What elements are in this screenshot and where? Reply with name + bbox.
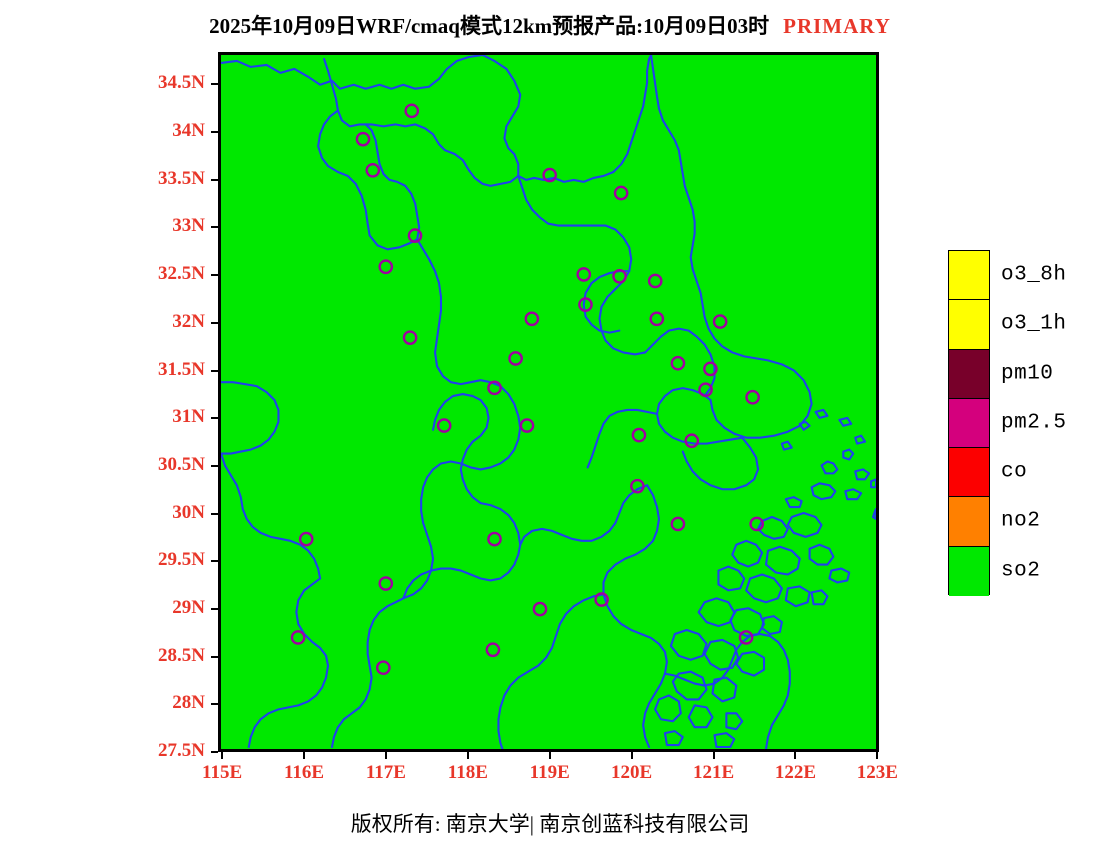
x-axis-label: 121E xyxy=(669,762,759,784)
x-axis-label: 122E xyxy=(750,762,840,784)
y-axis-label: 29.5N xyxy=(90,549,205,571)
map-canvas[interactable] xyxy=(218,52,879,752)
x-axis-label: 118E xyxy=(423,762,513,784)
legend-label-no2: no2 xyxy=(1001,510,1040,533)
legend-swatch-so2[interactable]: so2 xyxy=(949,547,989,596)
y-axis-label: 30N xyxy=(90,502,205,524)
y-axis-tick xyxy=(211,226,218,228)
x-axis-tick xyxy=(876,752,878,759)
map-geometry xyxy=(221,55,876,749)
x-axis-label: 119E xyxy=(505,762,595,784)
y-axis-label: 30.5N xyxy=(90,454,205,476)
y-axis-label: 34N xyxy=(90,120,205,142)
legend-swatch-o3-8h[interactable]: o3_8h xyxy=(949,251,989,300)
legend-swatch-co[interactable]: co xyxy=(949,448,989,497)
x-axis-tick xyxy=(303,752,305,759)
x-axis-label: 123E xyxy=(832,762,922,784)
x-axis-label: 116E xyxy=(259,762,349,784)
y-axis-label: 33N xyxy=(90,215,205,237)
legend-swatch-o3-1h[interactable]: o3_1h xyxy=(949,300,989,349)
y-axis-label: 31.5N xyxy=(90,359,205,381)
copyright-footer: 版权所有: 南京大学| 南京创蓝科技有限公司 xyxy=(0,808,1100,838)
legend-label-so2: so2 xyxy=(1001,560,1040,583)
legend-swatch-pm10[interactable]: pm10 xyxy=(949,350,989,399)
x-axis-tick xyxy=(713,752,715,759)
y-axis-tick xyxy=(211,751,218,753)
x-axis-label: 117E xyxy=(341,762,431,784)
y-axis-tick xyxy=(211,656,218,658)
y-axis-label: 27.5N xyxy=(90,740,205,762)
page-title: 2025年10月09日WRF/cmaq模式12km预报产品:10月09日03时P… xyxy=(0,10,1100,40)
y-axis-tick xyxy=(211,83,218,85)
y-axis-label: 29N xyxy=(90,597,205,619)
y-axis-tick xyxy=(211,179,218,181)
y-axis-tick xyxy=(211,417,218,419)
y-axis-tick xyxy=(211,370,218,372)
y-axis-label: 33.5N xyxy=(90,168,205,190)
y-axis-tick xyxy=(211,322,218,324)
legend-label-pm2-5: pm2.5 xyxy=(1001,411,1067,434)
y-axis-tick xyxy=(211,703,218,705)
title-main-text: 2025年10月09日WRF/cmaq模式12km预报产品:10月09日03时 xyxy=(209,14,769,38)
legend-swatch-no2[interactable]: no2 xyxy=(949,497,989,546)
y-axis-label: 32.5N xyxy=(90,263,205,285)
legend-color-scale[interactable]: o3_8ho3_1hpm10pm2.5cono2so2 xyxy=(948,250,990,595)
y-axis-tick xyxy=(211,560,218,562)
y-axis-tick xyxy=(211,465,218,467)
x-axis-tick xyxy=(385,752,387,759)
y-axis-label: 34.5N xyxy=(90,72,205,94)
x-axis-tick xyxy=(794,752,796,759)
x-axis-tick xyxy=(467,752,469,759)
x-axis-label: 120E xyxy=(587,762,677,784)
forecast-map-page: 2025年10月09日WRF/cmaq模式12km预报产品:10月09日03时P… xyxy=(0,0,1100,850)
x-axis-tick xyxy=(631,752,633,759)
legend-label-pm10: pm10 xyxy=(1001,362,1053,385)
y-axis-label: 28.5N xyxy=(90,645,205,667)
legend-label-o3-1h: o3_1h xyxy=(1001,313,1067,336)
y-axis-tick xyxy=(211,608,218,610)
x-axis-tick xyxy=(549,752,551,759)
y-axis-tick xyxy=(211,274,218,276)
legend-label-co: co xyxy=(1001,461,1027,484)
title-primary-text: PRIMARY xyxy=(783,14,891,38)
y-axis-label: 32N xyxy=(90,311,205,333)
legend-label-o3-8h: o3_8h xyxy=(1001,264,1067,287)
y-axis-label: 31N xyxy=(90,406,205,428)
y-axis-label: 28N xyxy=(90,692,205,714)
y-axis-tick xyxy=(211,513,218,515)
x-axis-tick xyxy=(221,752,223,759)
legend-swatch-pm2-5[interactable]: pm2.5 xyxy=(949,399,989,448)
y-axis-tick xyxy=(211,131,218,133)
x-axis-label: 115E xyxy=(177,762,267,784)
